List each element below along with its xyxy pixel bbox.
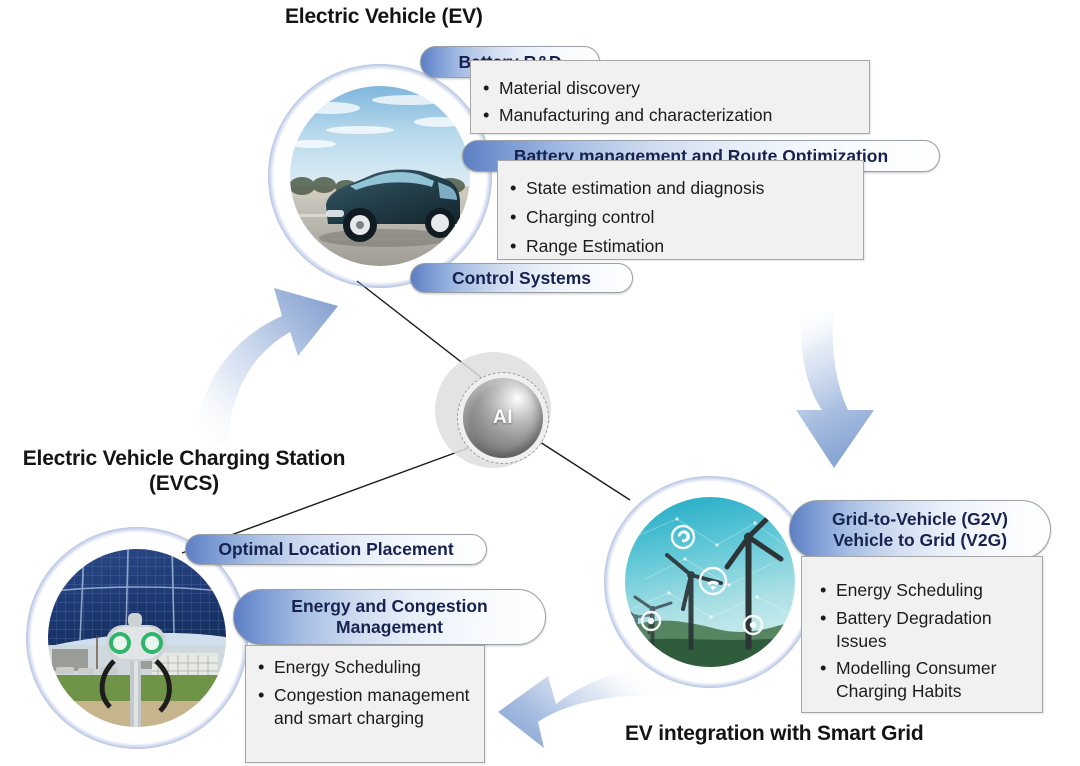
list-item: Modelling Consumer Charging Habits (836, 657, 1032, 703)
pill-control-systems[interactable]: Control Systems (410, 263, 633, 293)
section-title-ev: Electric Vehicle (EV) (285, 5, 483, 30)
ai-core-node[interactable]: AI (435, 352, 563, 480)
list-item: Battery Degradation Issues (836, 607, 1032, 653)
list-item: Charging control (526, 206, 853, 229)
section-title-evcs: Electric Vehicle Charging Station (EVCS) (14, 447, 354, 497)
list-item: Manufacturing and characterization (499, 104, 859, 127)
pill-g2v-v2g[interactable]: Grid-to-Vehicle (G2V) Vehicle to Grid (V… (789, 500, 1051, 559)
pill-optimal-location[interactable]: Optimal Location Placement (185, 534, 487, 565)
pill-energy-congestion[interactable]: Energy and Congestion Management (233, 589, 546, 645)
evcs-photo (48, 549, 226, 727)
ev-photo (290, 86, 470, 266)
arrow-evcs-to-ev (186, 276, 346, 448)
list-item: State estimation and diagnosis (526, 177, 853, 200)
smartgrid-circle (604, 476, 816, 688)
section-title-smartgrid: EV integration with Smart Grid (625, 722, 924, 747)
box-energy-congestion-list: Energy Scheduling Congestion management … (274, 656, 474, 729)
arrow-ev-to-smartgrid (778, 306, 908, 496)
list-item: Material discovery (499, 77, 859, 100)
list-item: Range Estimation (526, 235, 853, 258)
box-battery-management: State estimation and diagnosis Charging … (497, 160, 864, 260)
ai-label: AI (463, 378, 543, 458)
ev-circle (268, 64, 492, 288)
box-g2v-v2g-list: Energy Scheduling Battery Degradation Is… (836, 579, 1032, 703)
diagram-canvas: Electric Vehicle (EV) (0, 0, 1080, 766)
box-battery-management-list: State estimation and diagnosis Charging … (526, 177, 853, 257)
box-g2v-v2g: Energy Scheduling Battery Degradation Is… (801, 556, 1043, 713)
list-item: Energy Scheduling (836, 579, 1032, 602)
box-energy-congestion: Energy Scheduling Congestion management … (245, 645, 485, 763)
box-battery-rd-list: Material discovery Manufacturing and cha… (499, 77, 859, 127)
list-item: Congestion management and smart charging (274, 684, 474, 730)
smartgrid-photo (625, 497, 795, 667)
list-item: Energy Scheduling (274, 656, 474, 679)
box-battery-rd: Material discovery Manufacturing and cha… (470, 60, 870, 134)
